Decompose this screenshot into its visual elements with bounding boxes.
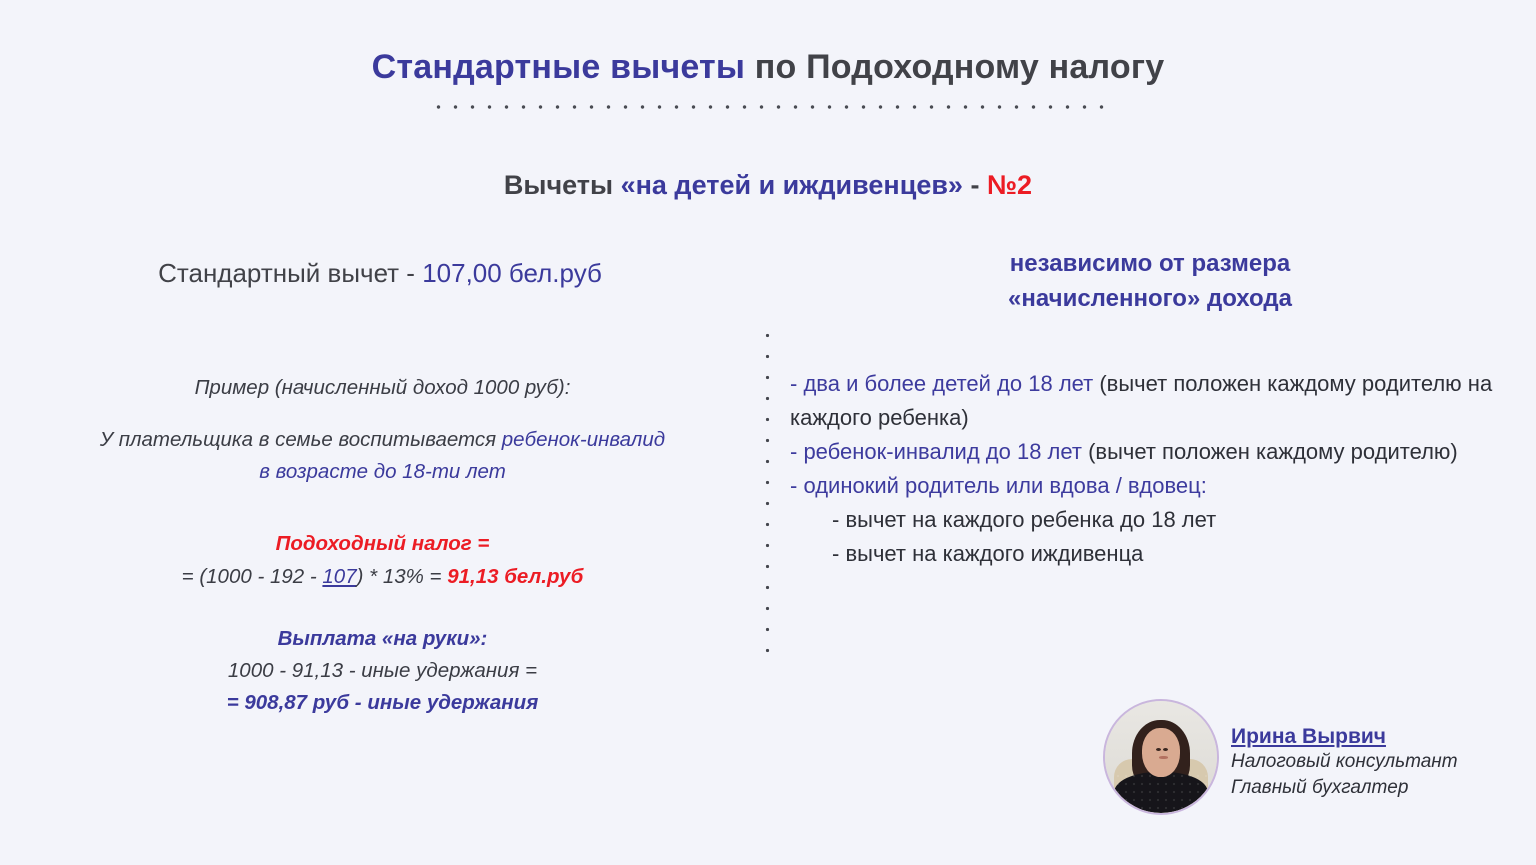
right-heading-line-2: «начисленного» дохода [790, 281, 1510, 316]
list-item-plain: - вычет на каждого ребенка до 18 лет [832, 507, 1216, 532]
avatar-image [1105, 701, 1217, 813]
column-dotted-divider [765, 325, 770, 659]
list-item-plain: (вычет положен каждому родителю) [1088, 439, 1458, 464]
right-heading-line-1: независимо от размера [790, 246, 1510, 281]
left-column-heading: Стандартный вычет - 107,00 бел.руб [0, 258, 760, 289]
payout-block: Выплата «на руки»: 1000 - 91,13 - иные у… [10, 623, 755, 719]
subtitle-part-2: «на детей и иждивенцев» [621, 170, 963, 200]
list-item: - два и более детей до 18 лет (вычет пол… [790, 367, 1516, 435]
avatar-eye-right [1163, 748, 1168, 751]
tax-formula-deduction: 107 [322, 565, 356, 588]
right-column-list: - два и более детей до 18 лет (вычет пол… [790, 367, 1516, 571]
example-line-2-plain: У плательщика в семье воспитывается [100, 428, 502, 451]
right-column-heading: независимо от размера «начисленного» дох… [790, 246, 1510, 316]
list-item-plain: - вычет на каждого иждивенца [832, 541, 1143, 566]
list-item-highlight: - ребенок-инвалид до 18 лет [790, 439, 1088, 464]
subtitle-part-1: Вычеты [504, 170, 621, 200]
subtitle-part-3: - [963, 170, 987, 200]
tax-calculation-block: Подоходный налог = = (1000 - 192 - 107) … [10, 527, 755, 593]
author-details: Ирина Вырвич Налоговый консультант Главн… [1231, 725, 1521, 801]
list-item-highlight: - одинокий родитель или вдова / вдовец: [790, 473, 1207, 498]
title-dotted-divider [430, 104, 1110, 110]
avatar-mouth [1159, 756, 1168, 759]
page-subtitle: Вычеты «на детей и иждивенцев» - №2 [0, 170, 1536, 201]
payout-line-2: = 908,87 руб - иные удержания [10, 687, 755, 719]
author-name-link[interactable]: Ирина Вырвич [1231, 725, 1521, 749]
left-heading-label: Стандартный вычет - [158, 258, 422, 288]
author-block: Ирина Вырвич Налоговый консультант Главн… [1103, 699, 1523, 824]
page-title-plain: по Подоходному налогу [745, 48, 1164, 86]
avatar [1103, 699, 1219, 815]
tax-formula-result: 91,13 бел.руб [447, 565, 583, 588]
slide-canvas: Стандартные вычеты по Подоходному налогу… [0, 0, 1536, 865]
list-item-highlight: - два и более детей до 18 лет [790, 371, 1099, 396]
example-spacer [10, 404, 755, 424]
subtitle-badge-number: №2 [987, 170, 1032, 200]
page-title: Стандартные вычеты по Подоходному налогу [0, 48, 1536, 87]
author-role-line-1: Налоговый консультант [1231, 749, 1521, 775]
author-role-line-2: Главный бухгалтер [1231, 775, 1521, 801]
payout-line-1: 1000 - 91,13 - иные удержания = [10, 655, 755, 687]
example-line-1: Пример (начисленный доход 1000 руб): [10, 372, 755, 404]
example-line-2-highlight: ребенок-инвалид [502, 428, 665, 451]
avatar-clothing [1114, 772, 1208, 813]
example-line-2: У плательщика в семье воспитывается ребе… [10, 424, 755, 456]
tax-calculation-formula: = (1000 - 192 - 107) * 13% = 91,13 бел.р… [10, 560, 755, 593]
page-title-highlight: Стандартные вычеты [372, 48, 745, 86]
payout-title: Выплата «на руки»: [10, 623, 755, 655]
avatar-eye-left [1156, 748, 1161, 751]
tax-formula-middle: ) * 13% = [357, 565, 448, 588]
tax-calculation-title: Подоходный налог = [10, 527, 755, 560]
avatar-face [1142, 728, 1180, 777]
left-heading-amount: 107,00 бел.руб [422, 258, 602, 288]
list-item: - вычет на каждого иждивенца [790, 537, 1516, 571]
list-item: - ребенок-инвалид до 18 лет (вычет полож… [790, 435, 1516, 469]
list-item: - вычет на каждого ребенка до 18 лет [790, 503, 1516, 537]
list-item: - одинокий родитель или вдова / вдовец: [790, 469, 1516, 503]
example-block: Пример (начисленный доход 1000 руб): У п… [10, 372, 755, 488]
tax-formula-prefix: = (1000 - 192 - [182, 565, 323, 588]
example-line-3: в возрасте до 18-ти лет [10, 456, 755, 488]
